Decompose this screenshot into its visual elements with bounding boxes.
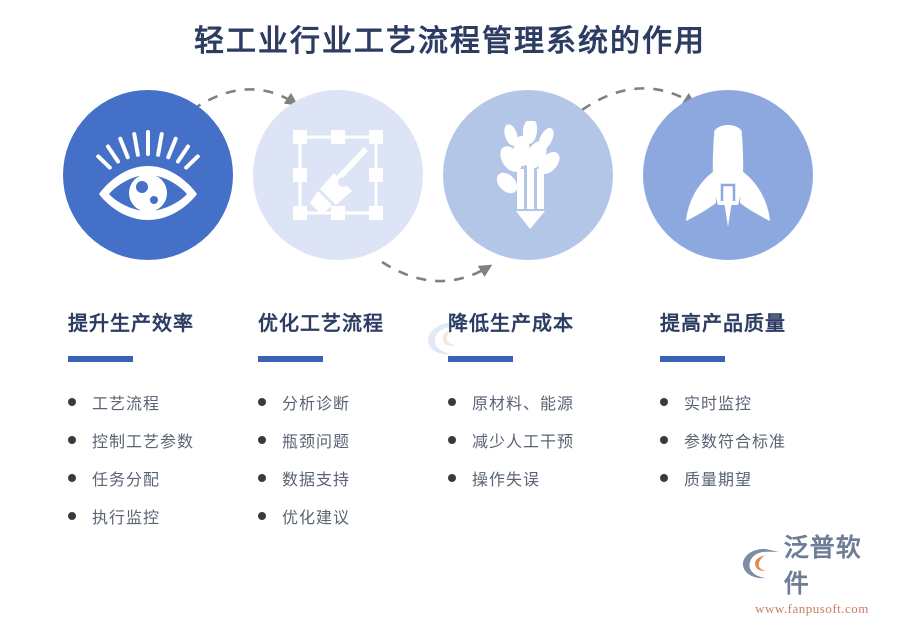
bullet-dot-icon — [68, 398, 76, 406]
list-item: 执行监控 — [68, 504, 283, 528]
bullet-label: 分析诊断 — [282, 390, 350, 414]
bullet-dot-icon — [68, 436, 76, 444]
bullet-dot-icon — [660, 436, 668, 444]
step-heading-3: 降低生产成本 — [448, 310, 663, 338]
step-column-3: 降低生产成本 原材料、能源 减少人工干预 操作失误 — [448, 310, 663, 504]
bullet-dot-icon — [258, 398, 266, 406]
list-item: 瓶颈问题 — [258, 428, 473, 452]
bullet-dot-icon — [258, 474, 266, 482]
circle-bg-4 — [643, 90, 813, 260]
bullet-label: 工艺流程 — [92, 390, 160, 414]
bullet-dot-icon — [258, 436, 266, 444]
step-column-4: 提高产品质量 实时监控 参数符合标准 质量期望 — [660, 310, 875, 504]
list-item: 工艺流程 — [68, 390, 283, 414]
bullet-dot-icon — [448, 436, 456, 444]
logo-row: 泛普软件 — [742, 528, 882, 600]
list-item: 控制工艺参数 — [68, 428, 283, 452]
step-circle-1[interactable] — [63, 90, 233, 260]
circle-bg-3 — [443, 90, 613, 260]
bullet-dot-icon — [68, 474, 76, 482]
infographic-canvas: 轻工业行业工艺流程管理系统的作用 — [0, 0, 900, 600]
logo-url: www.fanpusoft.com — [742, 601, 882, 617]
step-circle-4[interactable] — [643, 90, 813, 260]
bullet-dot-icon — [448, 398, 456, 406]
bullet-label: 参数符合标准 — [684, 428, 786, 452]
rocket-icon — [678, 123, 778, 227]
accent-bar-4 — [660, 356, 725, 362]
bullet-list-2: 分析诊断 瓶颈问题 数据支持 优化建议 — [258, 390, 473, 528]
bullet-label: 实时监控 — [684, 390, 752, 414]
bullet-label: 减少人工干预 — [472, 428, 574, 452]
list-item: 减少人工干预 — [448, 428, 663, 452]
bullet-label: 数据支持 — [282, 466, 350, 490]
bullet-label: 优化建议 — [282, 504, 350, 528]
step-heading-1: 提升生产效率 — [68, 310, 283, 338]
bullet-label: 原材料、能源 — [472, 390, 574, 414]
fanpu-logo-mark-icon — [742, 547, 780, 581]
pencil-leaf-icon — [489, 121, 567, 229]
circle-bg-1 — [63, 90, 233, 260]
bullet-list-3: 原材料、能源 减少人工干预 操作失误 — [448, 390, 663, 490]
bullet-label: 质量期望 — [684, 466, 752, 490]
bullet-list-1: 工艺流程 控制工艺参数 任务分配 执行监控 — [68, 390, 283, 528]
step-column-1: 提升生产效率 工艺流程 控制工艺参数 任务分配 执行监控 — [68, 310, 283, 542]
pen-tool-icon — [290, 127, 386, 223]
logo-text: 泛普软件 — [784, 528, 882, 600]
eye-icon — [96, 130, 200, 220]
bullet-label: 任务分配 — [92, 466, 160, 490]
list-item: 参数符合标准 — [660, 428, 875, 452]
step-circle-2[interactable] — [253, 90, 423, 260]
list-item: 操作失误 — [448, 466, 663, 490]
bullet-dot-icon — [660, 474, 668, 482]
list-item: 优化建议 — [258, 504, 473, 528]
list-item: 质量期望 — [660, 466, 875, 490]
circle-bg-2 — [253, 90, 423, 260]
step-circle-3[interactable] — [443, 90, 613, 260]
bullet-label: 瓶颈问题 — [282, 428, 350, 452]
list-item: 分析诊断 — [258, 390, 473, 414]
list-item: 数据支持 — [258, 466, 473, 490]
accent-bar-2 — [258, 356, 323, 362]
page-title: 轻工业行业工艺流程管理系统的作用 — [0, 16, 900, 60]
bullet-dot-icon — [68, 512, 76, 520]
step-column-2: 优化工艺流程 分析诊断 瓶颈问题 数据支持 优化建议 — [258, 310, 473, 542]
accent-bar-1 — [68, 356, 133, 362]
list-item: 任务分配 — [68, 466, 283, 490]
bullet-label: 执行监控 — [92, 504, 160, 528]
bullet-list-4: 实时监控 参数符合标准 质量期望 — [660, 390, 875, 490]
bullet-dot-icon — [660, 398, 668, 406]
step-heading-4: 提高产品质量 — [660, 310, 875, 338]
list-item: 原材料、能源 — [448, 390, 663, 414]
bullet-dot-icon — [258, 512, 266, 520]
list-item: 实时监控 — [660, 390, 875, 414]
bullet-label: 控制工艺参数 — [92, 428, 194, 452]
bullet-dot-icon — [448, 474, 456, 482]
step-heading-2: 优化工艺流程 — [258, 310, 473, 338]
accent-bar-3 — [448, 356, 513, 362]
brand-logo[interactable]: 泛普软件 www.fanpusoft.com — [742, 528, 882, 584]
icon-circles-row — [0, 90, 900, 270]
bullet-label: 操作失误 — [472, 466, 540, 490]
